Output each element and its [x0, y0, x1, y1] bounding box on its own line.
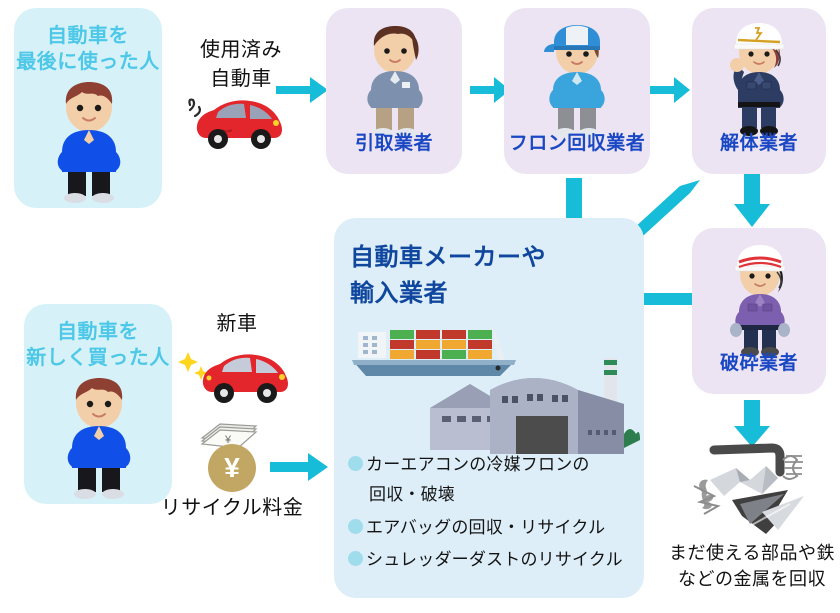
label-line-2: 新しく買った人 — [26, 347, 170, 369]
caption-recycle-fee: リサイクル料金 — [160, 494, 304, 523]
main-box-bullet-list: カーエアコンの冷媒フロンの 回収・破壊 エアバッグの回収・リサイクル シュレッダ… — [348, 452, 648, 577]
list-item: エアバッグの回収・リサイクル — [348, 515, 648, 541]
card-shredder[interactable]: 破砕業者 — [692, 228, 826, 394]
factory-icon — [428, 356, 640, 460]
caption-text: 新車 — [217, 313, 258, 335]
card-dismantler[interactable]: 解体業者 — [692, 8, 826, 174]
card-fluorocarbon-collector[interactable]: フロン回収業者 — [504, 8, 650, 174]
bullet-dot-icon — [348, 456, 363, 471]
recycle-fee-coin: ¥ — [208, 444, 256, 492]
list-item: シュレッダーダストのリサイクル — [348, 547, 648, 573]
card-last-user-label: 自動車を 最後に使った人 — [14, 24, 162, 75]
bullet-text: エアバッグの回収・リサイクル — [366, 515, 605, 541]
caption-new-car: 新車 — [184, 310, 290, 339]
bullet-text: シュレッダーダストのリサイクル — [366, 547, 623, 573]
caption-line-1: 使用済み — [200, 39, 282, 61]
card-dismantler-label: 解体業者 — [692, 132, 826, 156]
person-new-buyer-icon — [56, 376, 142, 500]
card-shredder-label-text: 破砕業者 — [720, 353, 798, 374]
card-new-buyer[interactable]: 自動車を 新しく買った人 — [24, 304, 172, 504]
arrow-dismantler-down-to-shredder — [730, 170, 774, 230]
label-line-1: 自動車を — [47, 25, 129, 47]
title-line-2: 輸入業者 — [350, 280, 448, 307]
bullet-continuation: 回収・破壊 — [369, 482, 648, 508]
card-shredder-label: 破砕業者 — [692, 352, 826, 376]
person-fluorocarbon-icon — [538, 22, 616, 140]
yen-symbol-icon: ¥ — [224, 454, 240, 482]
arrow-fluorocarbon-to-dismantler — [648, 72, 692, 108]
new-car-icon — [176, 338, 300, 410]
card-collector-label-text: 引取業者 — [355, 133, 433, 154]
bullet-text: カーエアコンの冷媒フロンの — [366, 452, 590, 478]
bullet-dot-icon — [348, 519, 363, 534]
card-collector[interactable]: 引取業者 — [326, 8, 462, 174]
caption-scrap-metal: まだ使える部品や鉄 などの金属を回収 — [662, 540, 840, 592]
label-line-2: 最後に使った人 — [16, 51, 160, 73]
person-last-user-icon — [46, 80, 132, 204]
caption-text: リサイクル料金 — [161, 497, 304, 519]
card-fluorocarbon-label: フロン回収業者 — [504, 132, 650, 156]
title-line-1: 自動車メーカーや — [350, 244, 546, 271]
card-last-user[interactable]: 自動車を 最後に使った人 — [14, 8, 162, 208]
main-box-title: 自動車メーカーや 輸入業者 — [350, 240, 630, 312]
bullet-dot-icon — [348, 551, 363, 566]
card-new-buyer-label: 自動車を 新しく買った人 — [24, 320, 172, 371]
used-car-icon — [176, 86, 296, 158]
scrap-metal-icon — [680, 438, 830, 542]
diagram-canvas: 自動車を 最後に使った人 使用済み 自動車 — [0, 0, 840, 613]
card-collector-label: 引取業者 — [326, 132, 462, 156]
list-item: カーエアコンの冷媒フロンの — [348, 452, 648, 478]
label-line-1: 自動車を — [57, 321, 139, 343]
person-shredder-icon — [720, 240, 800, 360]
card-fluorocarbon-label-text: フロン回収業者 — [509, 133, 646, 154]
caption-line-1: まだ使える部品や鉄 — [669, 543, 835, 563]
person-dismantler-icon — [718, 20, 800, 140]
person-collector-icon — [356, 24, 434, 140]
card-dismantler-label-text: 解体業者 — [720, 133, 798, 154]
caption-line-2: などの金属を回収 — [678, 569, 826, 589]
arrow-fee-to-maker — [268, 450, 330, 484]
